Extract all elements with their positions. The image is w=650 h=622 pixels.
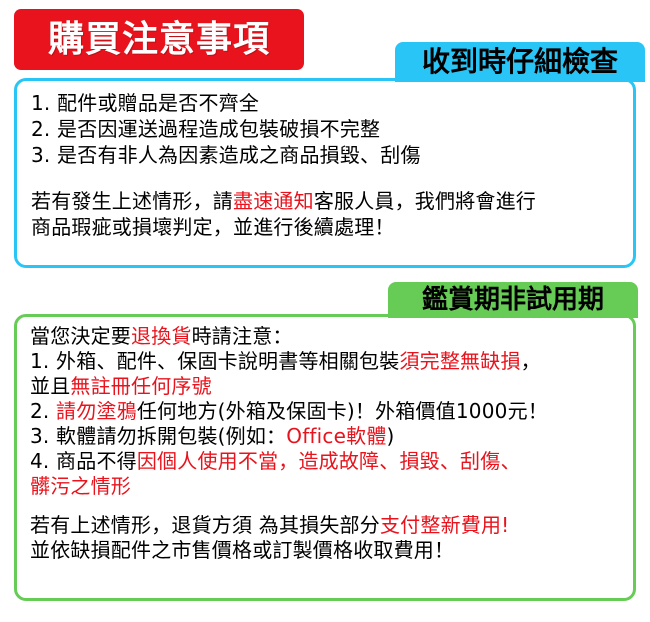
inspect-note-text-c: 客服人員，我們將會進行 — [314, 189, 536, 213]
trial-note-highlight: 支付整新費用! — [380, 513, 509, 537]
page-title-badge: 購買注意事項 — [14, 9, 304, 70]
list-item: 3. 是否有非人為因素造成之商品損毀、刮傷 — [31, 142, 633, 168]
list-item: 4. 商品不得因個人使用不當，造成故障、損毀、刮傷、 — [30, 449, 633, 474]
trial-item4-a: 4. 商品不得 — [30, 449, 137, 473]
trial-item1-highlight: 須完整無缺損 — [399, 349, 520, 373]
list-item: 2. 請勿塗鴉任何地方(外箱及保固卡)！外箱價值1000元！ — [30, 399, 633, 424]
trial-item3-highlight: Office軟體 — [286, 424, 386, 448]
trial-note-line-2: 並依缺損配件之市售價格或訂製價格收取費用！ — [30, 538, 633, 563]
list-item-continued: 髒污之情形 — [30, 474, 633, 499]
trial-intro-highlight: 退換貨 — [131, 324, 192, 348]
inspect-note-highlight: 盡速通知 — [233, 189, 314, 213]
inspect-note-line-1: 若有發生上述情形，請盡速通知客服人員，我們將會進行 — [31, 188, 633, 214]
list-item: 2. 是否因運送過程造成包裝破損不完整 — [31, 116, 633, 142]
list-item: 3. 軟體請勿拆開包裝(例如：Office軟體) — [30, 424, 633, 449]
section-header-inspect: 收到時仔細檢查 — [395, 42, 645, 82]
trial-note-line-1: 若有上述情形，退貨方須 為其損失部分支付整新費用! — [30, 513, 633, 538]
section-header-trial: 鑑賞期非試用期 — [388, 282, 638, 318]
trial-item2-highlight: 請勿塗鴉 — [56, 399, 137, 423]
inspect-note-text-a: 若有發生上述情形，請 — [31, 189, 233, 213]
trial-intro-a: 當您決定要 — [30, 324, 131, 348]
list-item-continued: 並且無註冊任何序號 — [30, 374, 633, 399]
trial-item4-highlight: 因個人使用不當，造成故障、損毀、刮傷、 — [137, 449, 521, 473]
trial-note-a: 若有上述情形，退貨方須 為其損失部分 — [30, 513, 380, 537]
trial-item2-c: 任何地方(外箱及保固卡)！外箱價值1000元！ — [137, 399, 548, 423]
list-item: 1. 配件或贈品是否不齊全 — [31, 90, 633, 116]
section-header-trial-label: 鑑賞期非試用期 — [422, 287, 604, 313]
trial-intro-c: 時請注意： — [192, 324, 293, 348]
list-item: 1. 外箱、配件、保固卡說明書等相關包裝須完整無缺損， — [30, 349, 633, 374]
spacer — [30, 499, 633, 513]
trial-item1-highlight-2: 無註冊任何序號 — [70, 374, 211, 398]
inspect-content-box: 1. 配件或贈品是否不齊全 2. 是否因運送過程造成包裝破損不完整 3. 是否有… — [14, 78, 636, 268]
trial-item3-a: 3. 軟體請勿拆開包裝(例如： — [30, 424, 286, 448]
page-title: 購買注意事項 — [48, 22, 270, 58]
trial-item1-a: 1. 外箱、配件、保固卡說明書等相關包裝 — [30, 349, 399, 373]
inspect-note-line-2: 商品瑕疵或損壞判定，並進行後續處理！ — [31, 214, 633, 240]
trial-item2-a: 2. — [30, 399, 56, 423]
trial-content-box: 當您決定要退換貨時請注意： 1. 外箱、配件、保固卡說明書等相關包裝須完整無缺損… — [14, 314, 636, 601]
spacer — [31, 168, 633, 188]
section-header-inspect-label: 收到時仔細檢查 — [422, 48, 618, 76]
trial-item3-c: ) — [387, 424, 395, 448]
trial-intro-line: 當您決定要退換貨時請注意： — [30, 324, 633, 349]
trial-item1-d: 並且 — [30, 374, 70, 398]
trial-item1-c: ， — [521, 349, 541, 373]
trial-item4-highlight-2: 髒污之情形 — [30, 474, 131, 498]
